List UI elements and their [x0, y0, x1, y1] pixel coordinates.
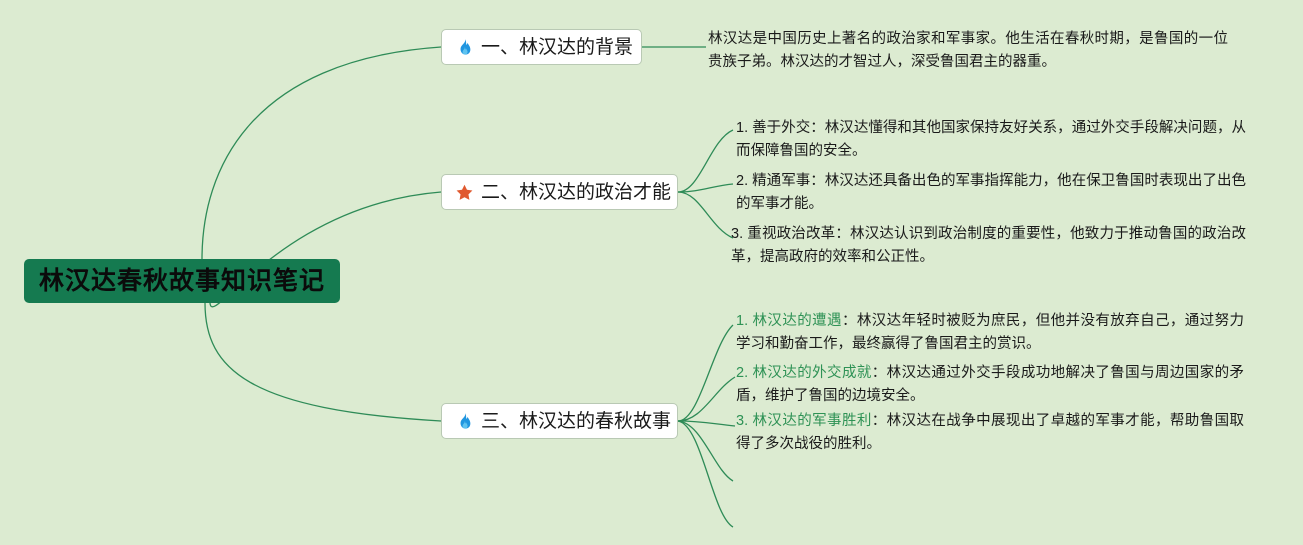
leaf-body: ：林汉达还具备出色的军事指挥能力，他在保卫鲁国时表现出了出色的军事才能。 [736, 173, 1246, 212]
edge-branch-3-leaf-2 [678, 377, 735, 421]
edge-branch-3-leaf-1 [678, 325, 733, 421]
leaf-text: 3. 林汉达的军事胜利：林汉达在战争中展现出了卓越的军事才能，帮助鲁国取得了多次… [736, 410, 1244, 457]
mindmap-canvas[interactable]: 林汉达春秋故事知识笔记 一、林汉达的背景 二、林汉达的政治才能 三、林汉达的春秋… [0, 0, 1303, 545]
leaf-prefix: 2. 精通军事 [736, 173, 810, 189]
branch-node-3-label: 三、林汉达的春秋故事 [481, 412, 671, 431]
leaf-body: 林汉达是中国历史上著名的政治家和军事家。他生活在春秋时期，是鲁国的一位贵族子弟。… [708, 31, 1228, 70]
edge-branch-2-leaf-1 [678, 130, 733, 192]
edge-branch-2-leaf-3 [678, 192, 733, 238]
leaf-text: 1. 林汉达的遭遇：林汉达年轻时被贬为庶民，但他并没有放弃自己，通过努力学习和勤… [736, 310, 1244, 357]
leaf-prefix: 3. 重视政治改革 [731, 226, 835, 242]
branch-node-3[interactable]: 三、林汉达的春秋故事 [441, 403, 678, 439]
leaf-text: 3. 重视政治改革：林汉达认识到政治制度的重要性，他致力于推动鲁国的政治改革，提… [731, 223, 1246, 270]
edge-root-branch-3 [205, 303, 441, 421]
leaf-text: 林汉达是中国历史上著名的政治家和军事家。他生活在春秋时期，是鲁国的一位贵族子弟。… [708, 28, 1228, 75]
edge-branch-3-stub-5 [678, 421, 733, 527]
root-node-label: 林汉达春秋故事知识笔记 [39, 269, 325, 294]
leaf-body: ：林汉达懂得和其他国家保持友好关系，通过外交手段解决问题，从而保障鲁国的安全。 [736, 120, 1246, 159]
edge-branch-2-leaf-2 [678, 184, 733, 192]
leaf-prefix: 1. 善于外交 [736, 120, 810, 136]
edge-branch-3-leaf-3 [678, 421, 735, 426]
flame-icon [455, 38, 474, 57]
edge-branch-3-stub-4 [678, 421, 733, 481]
branch-node-2[interactable]: 二、林汉达的政治才能 [441, 174, 678, 210]
edge-root-branch-1 [202, 47, 441, 259]
star-icon [455, 183, 474, 202]
leaf-text: 1. 善于外交：林汉达懂得和其他国家保持友好关系，通过外交手段解决问题，从而保障… [736, 117, 1246, 164]
branch-node-1-label: 一、林汉达的背景 [481, 38, 633, 57]
flame-icon [455, 412, 474, 431]
leaf-text: 2. 精通军事：林汉达还具备出色的军事指挥能力，他在保卫鲁国时表现出了出色的军事… [736, 170, 1246, 217]
branch-node-1[interactable]: 一、林汉达的背景 [441, 29, 642, 65]
leaf-prefix: 1. 林汉达的遭遇 [736, 313, 842, 329]
branch-node-2-label: 二、林汉达的政治才能 [481, 183, 671, 202]
root-node[interactable]: 林汉达春秋故事知识笔记 [24, 259, 340, 303]
leaf-prefix: 3. 林汉达的军事胜利 [736, 413, 872, 429]
leaf-text: 2. 林汉达的外交成就：林汉达通过外交手段成功地解决了鲁国与周边国家的矛盾，维护… [736, 362, 1244, 409]
leaf-prefix: 2. 林汉达的外交成就 [736, 365, 872, 381]
